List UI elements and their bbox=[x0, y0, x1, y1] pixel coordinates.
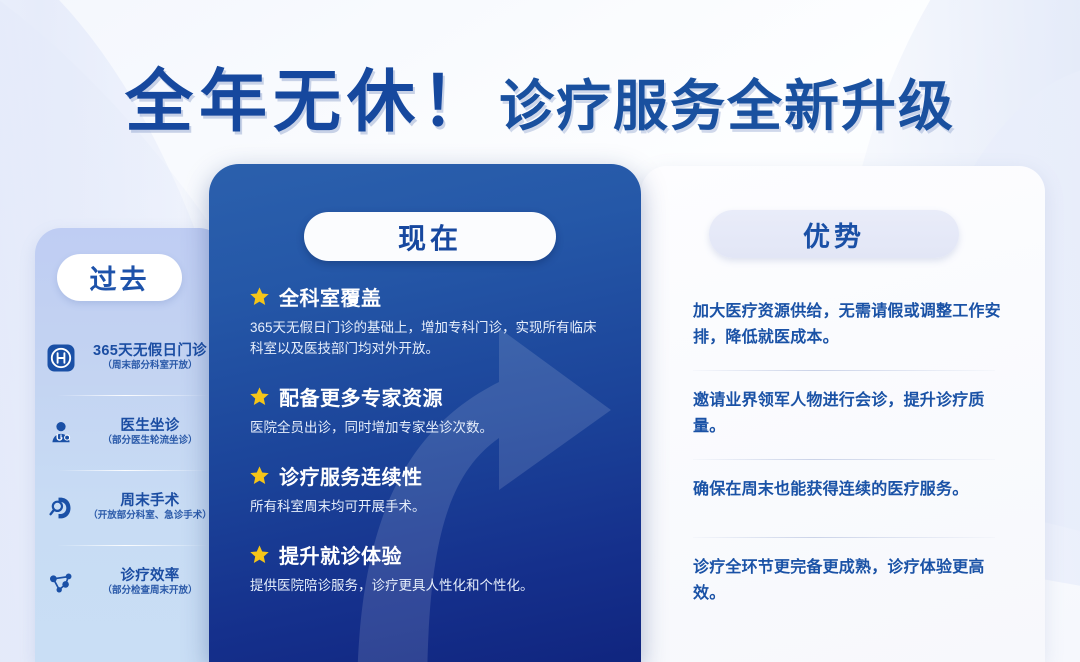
past-item-title: 医生坐诊 bbox=[81, 418, 219, 435]
star-icon bbox=[249, 465, 270, 486]
advantage-item: 加大医疗资源供给，无需请假或调整工作安排，降低就医成本。 bbox=[693, 281, 1003, 370]
past-item-efficiency: 诊疗效率 （部分检查周末开放） bbox=[35, 545, 225, 620]
past-item-title: 365天无假日门诊 bbox=[81, 343, 219, 360]
now-item-list: 全科室覆盖 365天无假日门诊的基础上，增加专科门诊，实现所有临床科室以及医技部… bbox=[249, 282, 609, 619]
now-item-desc: 提供医院陪诊服务，诊疗更具人性化和个性化。 bbox=[249, 576, 600, 597]
advantages-badge-label: 优势 bbox=[803, 215, 865, 254]
now-item-title: 提升就诊体验 bbox=[279, 540, 402, 569]
past-item-sub: （部分检查周末开放） bbox=[81, 586, 219, 597]
now-item-coverage: 全科室覆盖 365天无假日门诊的基础上，增加专科门诊，实现所有临床科室以及医技部… bbox=[249, 282, 609, 360]
doctor-stethoscope-icon bbox=[45, 417, 77, 449]
advantage-text: 邀请业界领军人物进行会诊，提升诊疗质量。 bbox=[693, 388, 1003, 441]
past-item-outpatient: 365天无假日门诊 （周末部分科室开放） bbox=[35, 320, 225, 395]
now-item-header: 诊疗服务连续性 bbox=[249, 461, 609, 490]
advantages-badge: 优势 bbox=[709, 210, 959, 258]
past-badge: 过去 bbox=[57, 254, 182, 301]
now-badge: 现在 bbox=[304, 212, 556, 261]
network-nodes-icon bbox=[45, 567, 77, 599]
page-title: 全年无休！诊疗服务全新升级 bbox=[0, 46, 1080, 145]
past-badge-label: 过去 bbox=[90, 258, 150, 297]
advantage-text: 确保在周末也能获得连续的医疗服务。 bbox=[693, 477, 1003, 503]
past-item-sub: （开放部分科室、急诊手术） bbox=[81, 511, 219, 522]
now-item-desc: 医院全员出诊，同时增加专家坐诊次数。 bbox=[249, 418, 600, 439]
surgery-scanner-icon bbox=[45, 492, 77, 524]
past-item-title: 周末手术 bbox=[81, 493, 219, 510]
page-title-sub: 诊疗服务全新升级 bbox=[499, 75, 955, 137]
now-item-header: 全科室覆盖 bbox=[249, 282, 609, 311]
past-item-doctor: 医生坐诊 （部分医生轮流坐诊） bbox=[35, 395, 225, 470]
now-item-experts: 配备更多专家资源 医院全员出诊，同时增加专家坐诊次数。 bbox=[249, 382, 609, 439]
now-item-desc: 365天无假日门诊的基础上，增加专科门诊，实现所有临床科室以及医技部门均对外开放… bbox=[249, 318, 600, 360]
now-item-desc: 所有科室周末均可开展手术。 bbox=[249, 497, 600, 518]
now-item-continuity: 诊疗服务连续性 所有科室周末均可开展手术。 bbox=[249, 461, 609, 518]
star-icon bbox=[249, 286, 270, 307]
advantage-text: 加大医疗资源供给，无需请假或调整工作安排，降低就医成本。 bbox=[693, 299, 1003, 352]
past-item-surgery: 周末手术 （开放部分科室、急诊手术） bbox=[35, 470, 225, 545]
star-icon bbox=[249, 544, 270, 565]
past-item-text: 365天无假日门诊 （周末部分科室开放） bbox=[81, 343, 219, 373]
star-icon bbox=[249, 386, 270, 407]
now-item-header: 提升就诊体验 bbox=[249, 540, 609, 569]
advantage-item: 邀请业界领军人物进行会诊，提升诊疗质量。 bbox=[693, 370, 1003, 459]
now-item-title: 诊疗服务连续性 bbox=[279, 461, 423, 490]
past-item-text: 医生坐诊 （部分医生轮流坐诊） bbox=[81, 418, 219, 448]
past-panel: 过去 365天无假日门诊 （周末部分科室开放） bbox=[35, 228, 225, 662]
advantages-panel: 优势 加大医疗资源供给，无需请假或调整工作安排，降低就医成本。 邀请业界领军人物… bbox=[641, 166, 1045, 662]
infographic-poster: 全年无休！诊疗服务全新升级 过去 365天无假日门诊 bbox=[0, 0, 1080, 662]
past-item-text: 周末手术 （开放部分科室、急诊手术） bbox=[81, 493, 219, 523]
now-item-experience: 提升就诊体验 提供医院陪诊服务，诊疗更具人性化和个性化。 bbox=[249, 540, 609, 597]
advantage-text: 诊疗全环节更完备更成熟，诊疗体验更高效。 bbox=[693, 555, 1003, 608]
now-item-header: 配备更多专家资源 bbox=[249, 382, 609, 411]
past-item-list: 365天无假日门诊 （周末部分科室开放） bbox=[35, 320, 225, 620]
advantage-item: 诊疗全环节更完备更成熟，诊疗体验更高效。 bbox=[693, 537, 1003, 626]
now-item-title: 全科室覆盖 bbox=[279, 282, 382, 311]
hospital-h-icon bbox=[45, 342, 77, 374]
advantages-item-list: 加大医疗资源供给，无需请假或调整工作安排，降低就医成本。 邀请业界领军人物进行会… bbox=[693, 281, 1003, 625]
now-item-title: 配备更多专家资源 bbox=[279, 382, 443, 411]
now-badge-label: 现在 bbox=[398, 217, 462, 257]
past-item-text: 诊疗效率 （部分检查周末开放） bbox=[81, 568, 219, 598]
past-item-title: 诊疗效率 bbox=[81, 568, 219, 585]
page-title-main: 全年无休！ bbox=[125, 64, 495, 140]
past-item-sub: （部分医生轮流坐诊） bbox=[81, 436, 219, 447]
past-item-sub: （周末部分科室开放） bbox=[81, 361, 219, 372]
now-panel: 现在 全科室覆盖 365天无假日门诊的基础上，增加专科门诊，实现所有临床科室以及… bbox=[209, 164, 641, 662]
advantage-item: 确保在周末也能获得连续的医疗服务。 bbox=[693, 459, 1003, 537]
